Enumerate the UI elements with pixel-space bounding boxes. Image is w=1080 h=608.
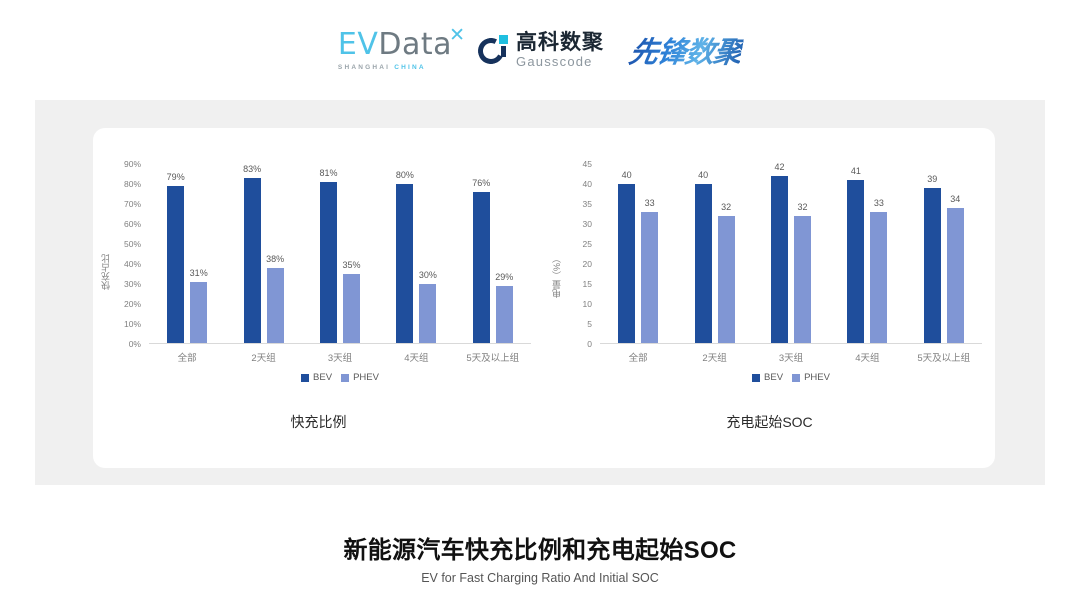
x-axis-label: 4天组 — [830, 350, 904, 364]
gausscode-logo: 高科数聚 Gausscode — [478, 32, 604, 68]
chart1-y-tick: 45 — [583, 159, 592, 169]
chart1-y-tick: 40 — [583, 179, 592, 189]
bar-group: 4133 — [830, 164, 904, 344]
chart0-y-tick: 90% — [124, 159, 141, 169]
evdata-data-text: Data — [378, 27, 452, 62]
xianfeng-logo: 先锋数聚 — [626, 29, 745, 71]
chart1-y-tick: 15 — [583, 279, 592, 289]
bar-value-label: 38% — [266, 254, 284, 264]
gausscode-en-name: Gausscode — [516, 55, 604, 68]
chart1-plot-area: 40334032423241333934 — [600, 164, 982, 344]
chart1-y-tick: 10 — [583, 299, 592, 309]
legend-label: BEV — [313, 372, 332, 383]
chart0-bar-groups: 79%31%83%38%81%35%80%30%76%29% — [149, 164, 531, 344]
chart0-y-tick: 50% — [124, 239, 141, 249]
bar-value-label: 32 — [721, 202, 731, 212]
bar-group: 4232 — [754, 164, 828, 344]
bar-value-label: 34 — [950, 194, 960, 204]
chart1-y-axis-ticks: 051015202530354045 — [544, 164, 596, 344]
chart0-y-axis-ticks: 0%10%20%30%40%50%60%70%80%90% — [93, 164, 145, 344]
chart1-y-tick: 25 — [583, 239, 592, 249]
x-axis-label: 5天及以上组 — [907, 350, 981, 364]
x-axis-label: 全部 — [601, 350, 675, 364]
legend-label: BEV — [764, 372, 783, 383]
legend-label: PHEV — [353, 372, 379, 383]
chart0-y-tick: 70% — [124, 199, 141, 209]
chart1-y-tick: 35 — [583, 199, 592, 209]
bar-phev[interactable]: 31% — [190, 282, 207, 344]
bar-phev[interactable]: 38% — [267, 268, 284, 344]
x-axis-label: 4天组 — [379, 350, 453, 364]
chart1-bar-groups: 40334032423241333934 — [600, 164, 982, 344]
bar-phev[interactable]: 32 — [794, 216, 811, 344]
chart0-plot-area: 79%31%83%38%81%35%80%30%76%29% — [149, 164, 531, 344]
bar-group: 80%30% — [379, 164, 453, 344]
slide-root: EVData ✕ SHANGHAI CHINA 高科数聚 Gausscode 先… — [0, 0, 1080, 608]
bar-value-label: 39 — [927, 174, 937, 184]
bar-value-label: 83% — [243, 164, 261, 174]
chart0-title: 快充比例 — [93, 412, 544, 432]
bar-bev[interactable]: 41 — [847, 180, 864, 344]
bar-phev[interactable]: 35% — [343, 274, 360, 344]
bar-phev[interactable]: 29% — [496, 286, 513, 344]
bar-bev[interactable]: 81% — [320, 182, 337, 344]
bar-value-label: 35% — [342, 260, 360, 270]
chart0-y-tick: 60% — [124, 219, 141, 229]
legend-item-phev[interactable]: PHEV — [341, 372, 379, 383]
bar-value-label: 40 — [622, 170, 632, 180]
chart1-y-tick: 30 — [583, 219, 592, 229]
bar-group: 4033 — [601, 164, 675, 344]
chart1-y-tick: 0 — [587, 339, 592, 349]
logo-bar: EVData ✕ SHANGHAI CHINA 高科数聚 Gausscode 先… — [0, 24, 1080, 76]
chart0-y-tick: 30% — [124, 279, 141, 289]
evdata-wordmark: EVData — [338, 30, 452, 60]
bar-bev[interactable]: 40 — [695, 184, 712, 344]
evdata-ev-text: EV — [338, 27, 378, 62]
chart0-legend: BEVPHEV — [149, 372, 531, 383]
chart0-y-tick: 0% — [129, 339, 141, 349]
legend-item-phev[interactable]: PHEV — [792, 372, 830, 383]
gausscode-bar-shape — [501, 46, 506, 57]
bar-value-label: 79% — [167, 172, 185, 182]
bar-group: 76%29% — [456, 164, 530, 344]
bar-value-label: 80% — [396, 170, 414, 180]
chart0-y-tick: 10% — [124, 319, 141, 329]
bar-bev[interactable]: 40 — [618, 184, 635, 344]
bar-group: 83%38% — [227, 164, 301, 344]
bar-group: 4032 — [678, 164, 752, 344]
bar-group: 81%35% — [303, 164, 377, 344]
legend-item-bev[interactable]: BEV — [301, 372, 332, 383]
gausscode-dot-shape — [499, 35, 508, 44]
chart-initial-soc: 电量（%） 051015202530354045 403340324232413… — [544, 140, 995, 450]
bar-value-label: 41 — [851, 166, 861, 176]
caption-subtitle: EV for Fast Charging Ratio And Initial S… — [0, 571, 1080, 585]
bar-value-label: 31% — [190, 268, 208, 278]
bar-value-label: 76% — [472, 178, 490, 188]
gausscode-g-icon — [478, 35, 509, 66]
legend-item-bev[interactable]: BEV — [752, 372, 783, 383]
chart1-legend: BEVPHEV — [600, 372, 982, 383]
bar-bev[interactable]: 39 — [924, 188, 941, 344]
bar-phev[interactable]: 34 — [947, 208, 964, 344]
legend-label: PHEV — [804, 372, 830, 383]
x-axis-label: 2天组 — [678, 350, 752, 364]
evdata-x-icon: ✕ — [449, 24, 465, 47]
bar-value-label: 29% — [495, 272, 513, 282]
x-axis-label: 2天组 — [227, 350, 301, 364]
chart1-title: 充电起始SOC — [544, 412, 995, 432]
chart0-y-tick: 80% — [124, 179, 141, 189]
caption-title: 新能源汽车快充比例和充电起始SOC — [0, 530, 1080, 565]
evdata-tagline-country: CHINA — [394, 64, 426, 71]
legend-swatch-icon — [752, 374, 760, 382]
chart1-y-tick: 20 — [583, 259, 592, 269]
legend-swatch-icon — [341, 374, 349, 382]
caption: 新能源汽车快充比例和充电起始SOC EV for Fast Charging R… — [0, 530, 1080, 585]
bar-value-label: 42 — [774, 162, 784, 172]
x-axis-label: 5天及以上组 — [456, 350, 530, 364]
bar-value-label: 32 — [797, 202, 807, 212]
bar-value-label: 33 — [645, 198, 655, 208]
chart1-x-axis-line — [600, 343, 982, 344]
bar-value-label: 33 — [874, 198, 884, 208]
x-axis-label: 3天组 — [754, 350, 828, 364]
bar-phev[interactable]: 30% — [419, 284, 436, 344]
charts-container: 快充占比 0%10%20%30%40%50%60%70%80%90% 79%31… — [93, 140, 995, 450]
chart1-y-tick: 5 — [587, 319, 592, 329]
bar-phev[interactable]: 32 — [718, 216, 735, 344]
x-axis-label: 3天组 — [303, 350, 377, 364]
chart0-x-axis-labels: 全部2天组3天组4天组5天及以上组 — [149, 350, 531, 364]
legend-swatch-icon — [792, 374, 800, 382]
bar-bev[interactable]: 76% — [473, 192, 490, 344]
gausscode-cn-name: 高科数聚 — [516, 32, 604, 53]
chart1-x-axis-labels: 全部2天组3天组4天组5天及以上组 — [600, 350, 982, 364]
chart0-y-tick: 40% — [124, 259, 141, 269]
bar-value-label: 30% — [419, 270, 437, 280]
chart-fast-charging-ratio: 快充占比 0%10%20%30%40%50%60%70%80%90% 79%31… — [93, 140, 544, 450]
bar-value-label: 40 — [698, 170, 708, 180]
bar-bev[interactable]: 79% — [167, 186, 184, 344]
chart0-y-tick: 20% — [124, 299, 141, 309]
bar-phev[interactable]: 33 — [641, 212, 658, 344]
x-axis-label: 全部 — [150, 350, 224, 364]
bar-bev[interactable]: 80% — [396, 184, 413, 344]
evdata-tagline-city: SHANGHAI — [338, 64, 390, 71]
gausscode-text: 高科数聚 Gausscode — [516, 32, 604, 68]
chart0-x-axis-line — [149, 343, 531, 344]
bar-value-label: 81% — [319, 168, 337, 178]
bar-phev[interactable]: 33 — [870, 212, 887, 344]
evdata-logo: EVData ✕ SHANGHAI CHINA — [338, 30, 452, 71]
bar-group: 79%31% — [150, 164, 224, 344]
bar-bev[interactable]: 83% — [244, 178, 261, 344]
evdata-tagline: SHANGHAI CHINA — [338, 64, 426, 71]
bar-group: 3934 — [907, 164, 981, 344]
legend-swatch-icon — [301, 374, 309, 382]
bar-bev[interactable]: 42 — [771, 176, 788, 344]
